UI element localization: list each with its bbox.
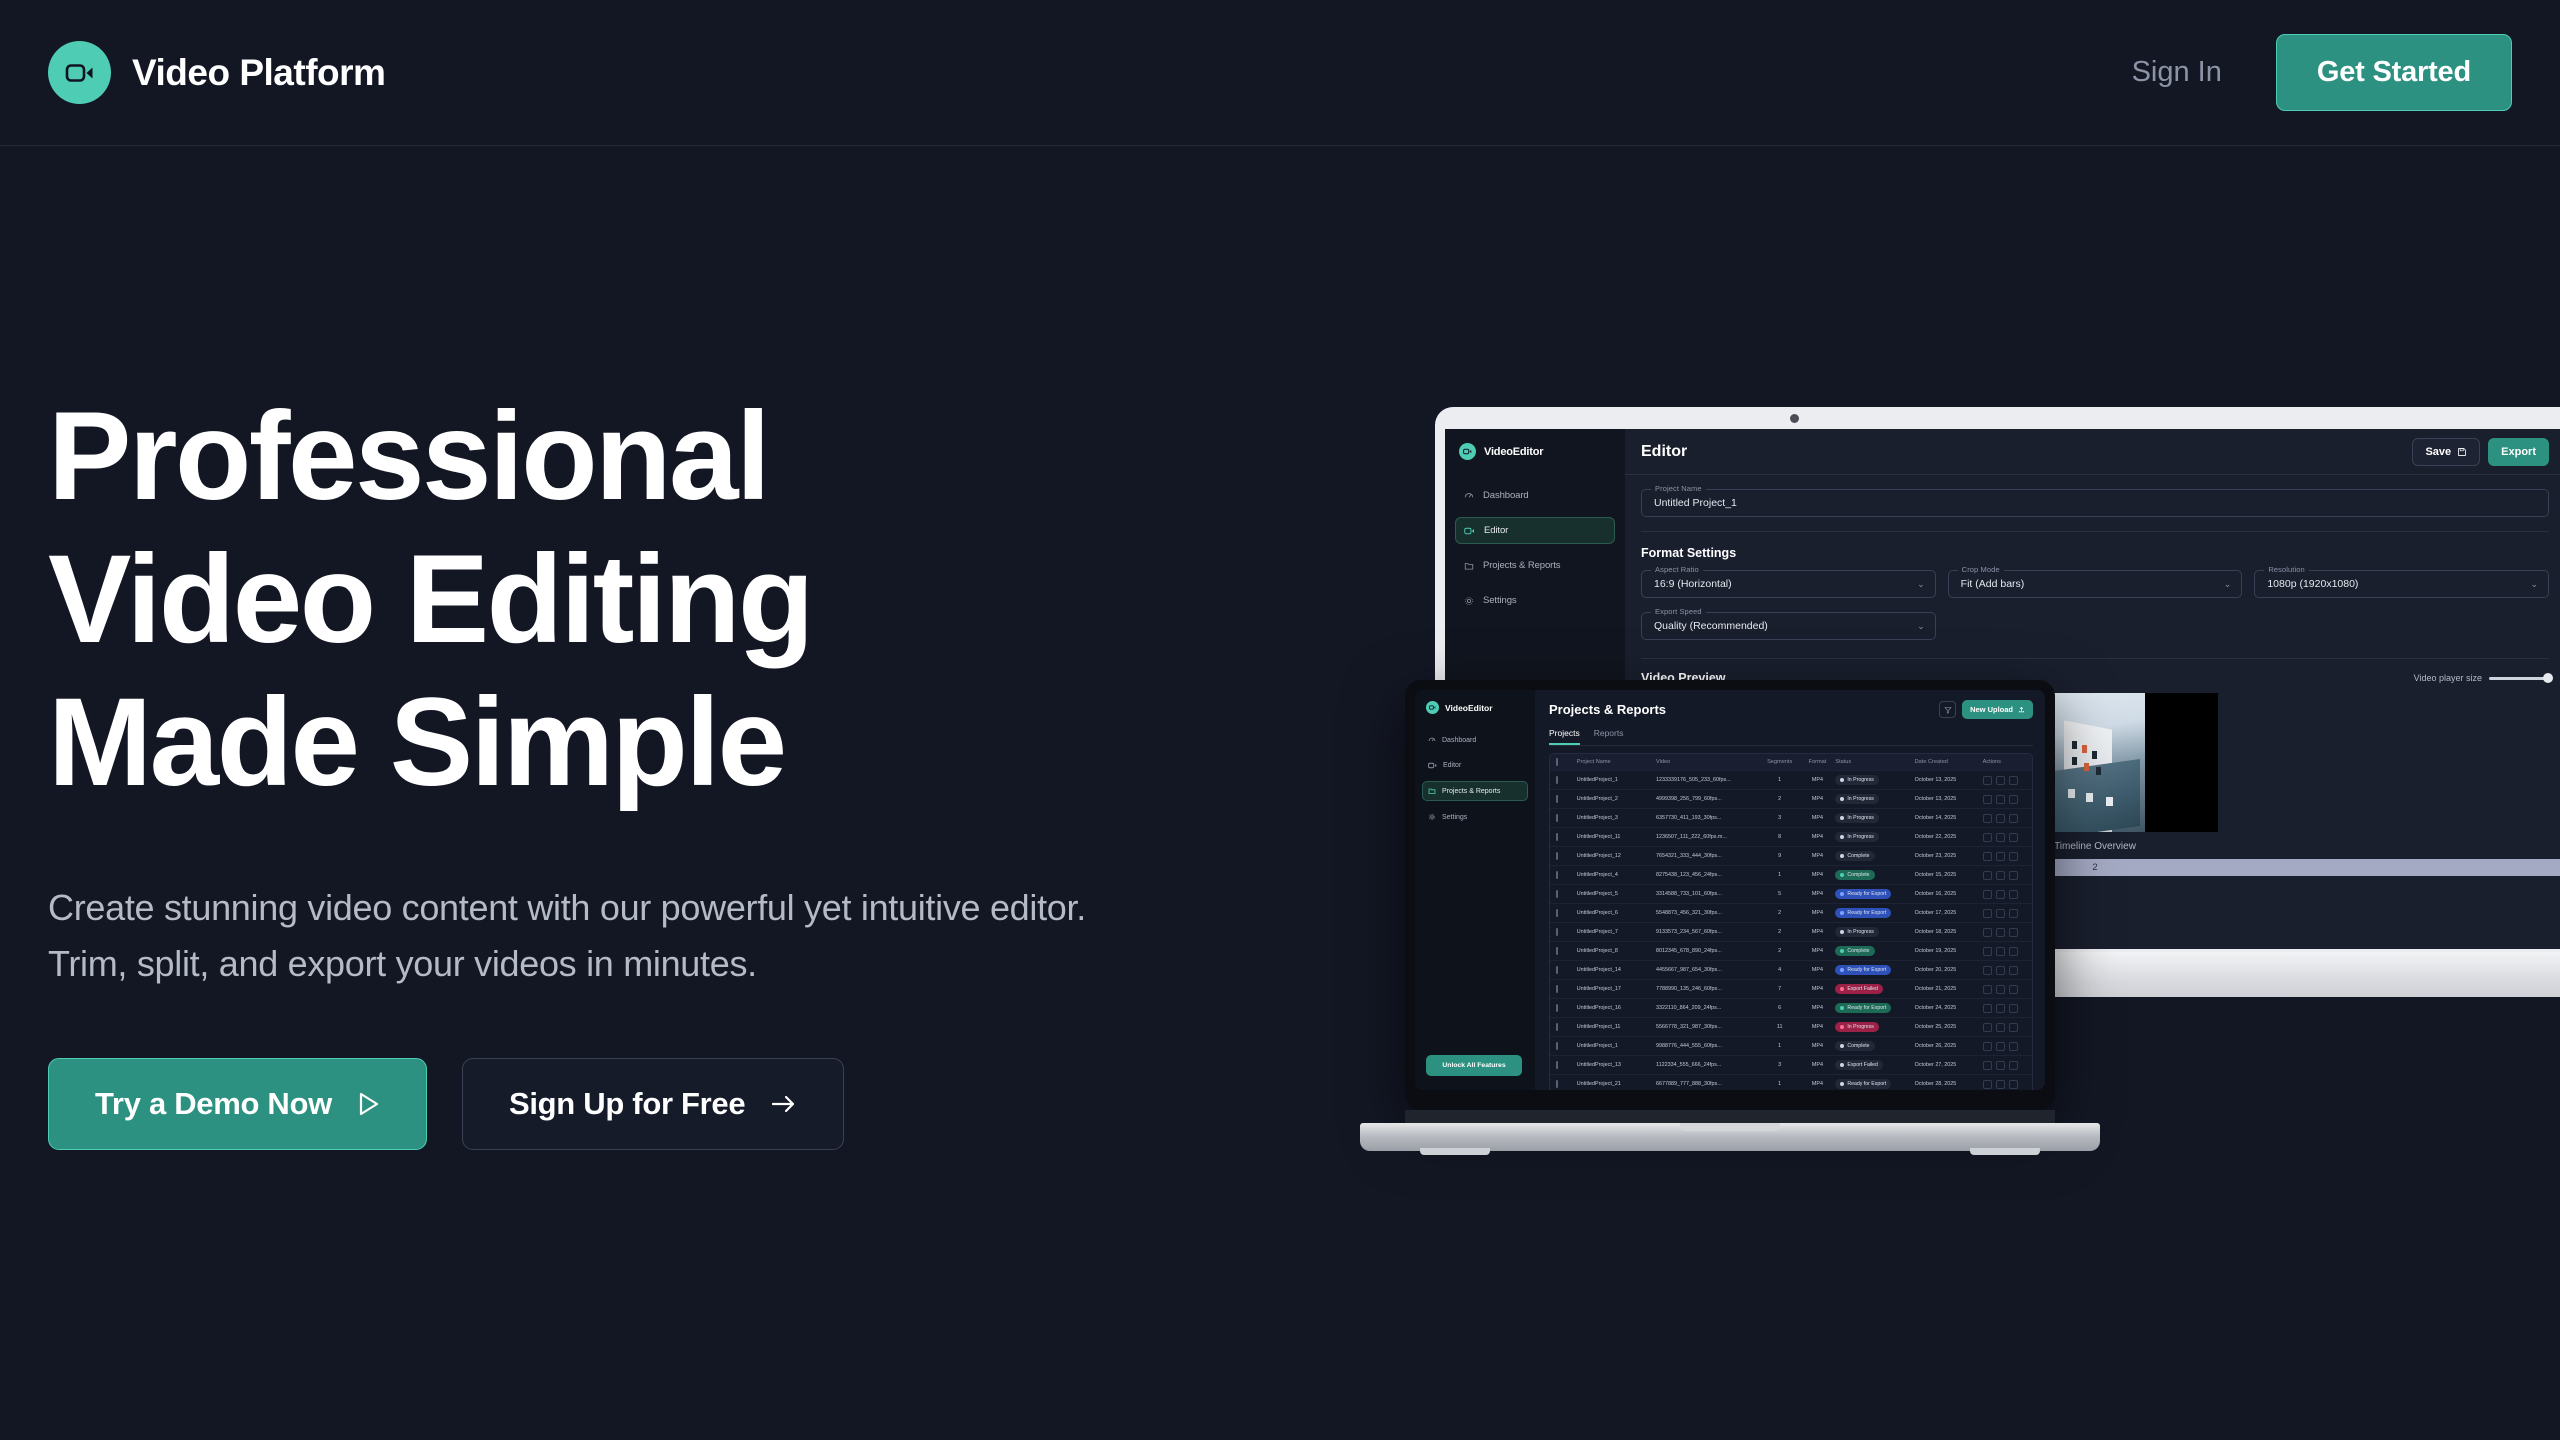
cell-segments: 11 bbox=[1760, 1024, 1800, 1030]
column-status[interactable]: Status bbox=[1835, 759, 1914, 765]
cell-segments: 3 bbox=[1760, 1062, 1800, 1068]
column-date-created[interactable]: Date Created bbox=[1915, 759, 1983, 765]
unlock-all-features-button[interactable]: Unlock All Features bbox=[1426, 1055, 1522, 1076]
page-title: Professional Video Editing Made Simple bbox=[48, 385, 1248, 814]
table-row[interactable]: UntitledProject_115566778_321_987_30fps.… bbox=[1550, 1017, 2032, 1036]
export-label: Export bbox=[2501, 446, 2536, 458]
cell-video: 4455667_987_654_30fps... bbox=[1656, 967, 1760, 973]
export-speed-select[interactable]: Export Speed Quality (Recommended) ⌄ bbox=[1641, 612, 1936, 640]
cell-project-name: UntitledProject_6 bbox=[1577, 910, 1656, 916]
cell-format: MP4 bbox=[1800, 777, 1836, 783]
row-checkbox[interactable] bbox=[1556, 910, 1577, 916]
cell-format: MP4 bbox=[1800, 986, 1836, 992]
cell-status: Export Failed bbox=[1835, 1060, 1914, 1070]
video-camera-icon bbox=[1426, 701, 1439, 714]
download-icon[interactable] bbox=[1996, 814, 2005, 823]
player-size-slider[interactable] bbox=[2489, 677, 2549, 680]
download-icon[interactable] bbox=[1996, 966, 2005, 975]
sidebar-item-label: Dashboard bbox=[1483, 490, 1529, 501]
table-row[interactable]: UntitledProject_24999398_256_799_60fps..… bbox=[1550, 789, 2032, 808]
filter-icon[interactable] bbox=[1939, 701, 1956, 718]
row-checkbox[interactable] bbox=[1556, 929, 1577, 935]
edit-icon[interactable] bbox=[1983, 871, 1992, 880]
cell-format: MP4 bbox=[1800, 1062, 1836, 1068]
export-speed-label: Export Speed bbox=[1651, 607, 1706, 616]
cell-video: 8012345_678_890_24fps... bbox=[1656, 948, 1760, 954]
cell-format: MP4 bbox=[1800, 1081, 1836, 1087]
sidebar-item-label: Settings bbox=[1442, 814, 1467, 821]
edit-icon[interactable] bbox=[1983, 1061, 1992, 1070]
cell-format: MP4 bbox=[1800, 1024, 1836, 1030]
save-disk-icon bbox=[2457, 447, 2467, 457]
status-badge: In Progress bbox=[1835, 832, 1879, 842]
status-badge: In Progress bbox=[1835, 794, 1879, 804]
cell-format: MP4 bbox=[1800, 967, 1836, 973]
project-name-value: Untitled Project_1 bbox=[1654, 497, 1737, 509]
cell-actions bbox=[1983, 947, 2026, 956]
row-checkbox[interactable] bbox=[1556, 872, 1577, 878]
export-speed-grid: Export Speed Quality (Recommended) ⌄ bbox=[1641, 612, 2549, 644]
sign-up-button[interactable]: Sign Up for Free bbox=[462, 1058, 844, 1150]
edit-icon[interactable] bbox=[1983, 776, 1992, 785]
cell-video: 1122334_555_666_24fps... bbox=[1656, 1062, 1760, 1068]
edit-icon[interactable] bbox=[1983, 1023, 1992, 1032]
folder-icon bbox=[1464, 561, 1474, 571]
cell-status: Ready for Export bbox=[1835, 1003, 1914, 1013]
projects-table: Project Name Video Segments Format Statu… bbox=[1549, 753, 2033, 1090]
hero-heading-line-2: Video Editing bbox=[48, 530, 812, 669]
cell-actions bbox=[1983, 1023, 2026, 1032]
projects-tabs: Projects Reports bbox=[1549, 728, 2033, 746]
sidebar-item-projects-reports[interactable]: Projects & Reports bbox=[1455, 552, 1615, 579]
site-header: Video Platform Sign In Get Started bbox=[0, 0, 2560, 146]
cell-date-created: October 23, 2025 bbox=[1915, 853, 1983, 859]
row-checkbox[interactable] bbox=[1556, 834, 1577, 840]
row-checkbox[interactable] bbox=[1556, 1043, 1577, 1049]
cell-format: MP4 bbox=[1800, 815, 1836, 821]
project-name-field[interactable]: Project Name Untitled Project_1 bbox=[1641, 489, 2549, 517]
format-settings-grid: Aspect Ratio 16:9 (Horizontal) ⌄ Crop Mo… bbox=[1641, 570, 2549, 602]
row-checkbox[interactable] bbox=[1556, 967, 1577, 973]
cell-status: In Progress bbox=[1835, 927, 1914, 937]
cell-date-created: October 28, 2025 bbox=[1915, 1081, 1983, 1087]
delete-icon[interactable] bbox=[2009, 890, 2018, 899]
hero-heading-line-3: Made Simple bbox=[48, 673, 785, 812]
cell-actions bbox=[1983, 1042, 2026, 1051]
cell-format: MP4 bbox=[1800, 929, 1836, 935]
cell-project-name: UntitledProject_8 bbox=[1577, 948, 1656, 954]
upload-icon bbox=[2018, 706, 2025, 713]
delete-icon[interactable] bbox=[2009, 833, 2018, 842]
cell-segments: 2 bbox=[1760, 796, 1800, 802]
cell-video: 7788990_135_246_60fps... bbox=[1656, 986, 1760, 992]
cell-project-name: UntitledProject_2 bbox=[1577, 796, 1656, 802]
try-demo-label: Try a Demo Now bbox=[95, 1086, 332, 1122]
gear-icon bbox=[1464, 596, 1474, 606]
status-badge: Complete bbox=[1835, 870, 1874, 880]
device-mockups: VideoEditor Dashboard Editor bbox=[1360, 380, 2560, 1240]
table-row[interactable]: UntitledProject_177788990_135_246_60fps.… bbox=[1550, 979, 2032, 998]
landing-page: Video Platform Sign In Get Started Profe… bbox=[0, 0, 2560, 1440]
download-icon[interactable] bbox=[1996, 1061, 2005, 1070]
table-row[interactable]: UntitledProject_79133573_234_567_60fps..… bbox=[1550, 922, 2032, 941]
cell-status: Ready for Export bbox=[1835, 889, 1914, 899]
sidebar-item-editor[interactable]: Editor bbox=[1455, 517, 1615, 544]
cell-status: Ready for Export bbox=[1835, 965, 1914, 975]
cell-segments: 1 bbox=[1760, 1081, 1800, 1087]
editor-nav: Dashboard Editor Projects & Reports bbox=[1445, 482, 1625, 614]
edit-icon[interactable] bbox=[1983, 928, 1992, 937]
cell-date-created: October 13, 2025 bbox=[1915, 796, 1983, 802]
column-actions: Actions bbox=[1983, 759, 2026, 765]
edit-icon[interactable] bbox=[1983, 852, 1992, 861]
editor-brand-name: VideoEditor bbox=[1484, 446, 1543, 458]
cell-format: MP4 bbox=[1800, 910, 1836, 916]
sidebar-item-dashboard[interactable]: Dashboard bbox=[1455, 482, 1615, 509]
row-checkbox[interactable] bbox=[1556, 1005, 1577, 1011]
dashboard-icon bbox=[1464, 491, 1474, 501]
edit-icon[interactable] bbox=[1983, 833, 1992, 842]
sidebar-item-editor[interactable]: Editor bbox=[1422, 756, 1528, 775]
edit-icon[interactable] bbox=[1983, 1004, 1992, 1013]
webcam-dot-icon bbox=[1790, 414, 1799, 423]
cell-status: In Progress bbox=[1835, 1022, 1914, 1032]
delete-icon[interactable] bbox=[2009, 1004, 2018, 1013]
cell-format: MP4 bbox=[1800, 948, 1836, 954]
video-camera-icon bbox=[1464, 527, 1475, 535]
resolution-select[interactable]: Resolution 1080p (1920x1080) ⌄ bbox=[2254, 570, 2549, 598]
cell-date-created: October 20, 2025 bbox=[1915, 967, 1983, 973]
cell-segments: 6 bbox=[1760, 1005, 1800, 1011]
cell-format: MP4 bbox=[1800, 1005, 1836, 1011]
try-demo-button[interactable]: Try a Demo Now bbox=[48, 1058, 427, 1150]
edit-icon[interactable] bbox=[1983, 966, 1992, 975]
download-icon[interactable] bbox=[1996, 852, 2005, 861]
laptop-foot-right bbox=[1970, 1148, 2040, 1155]
delete-icon[interactable] bbox=[2009, 985, 2018, 994]
laptop-nav: Dashboard Editor Projects & Reports bbox=[1415, 730, 1535, 827]
editor-brand: VideoEditor bbox=[1445, 429, 1625, 460]
cell-actions bbox=[1983, 1061, 2026, 1070]
table-row[interactable]: UntitledProject_36357730_411_193_30fps..… bbox=[1550, 808, 2032, 827]
cell-video: 8275438_123_456_24fps... bbox=[1656, 872, 1760, 878]
row-checkbox[interactable] bbox=[1556, 1081, 1577, 1087]
cell-format: MP4 bbox=[1800, 834, 1836, 840]
cell-video: 3322110_864_209_24fps... bbox=[1656, 1005, 1760, 1011]
table-row[interactable]: UntitledProject_131122334_555_666_24fps.… bbox=[1550, 1055, 2032, 1074]
player-size-label: Video player size bbox=[2414, 673, 2482, 683]
cell-video: 1236507_111_222_60fps.m... bbox=[1656, 834, 1760, 840]
delete-icon[interactable] bbox=[2009, 1023, 2018, 1032]
table-row[interactable]: UntitledProject_88012345_678_890_24fps..… bbox=[1550, 941, 2032, 960]
video-camera-icon bbox=[48, 41, 111, 104]
cell-project-name: UntitledProject_12 bbox=[1577, 853, 1656, 859]
sidebar-item-projects-reports[interactable]: Projects & Reports bbox=[1422, 781, 1528, 801]
dashboard-icon bbox=[1428, 736, 1436, 744]
table-row[interactable]: UntitledProject_127654321_333_444_30fps.… bbox=[1550, 846, 2032, 865]
cell-actions bbox=[1983, 966, 2026, 975]
sign-in-link[interactable]: Sign In bbox=[2132, 56, 2222, 89]
edit-icon[interactable] bbox=[1983, 795, 1992, 804]
status-badge: Export Failed bbox=[1835, 984, 1883, 994]
table-row[interactable]: UntitledProject_19988776_444_555_60fps..… bbox=[1550, 1036, 2032, 1055]
cell-segments: 3 bbox=[1760, 815, 1800, 821]
cell-video: 9988776_444_555_60fps... bbox=[1656, 1043, 1760, 1049]
sign-up-label: Sign Up for Free bbox=[509, 1086, 745, 1122]
cell-project-name: UntitledProject_11 bbox=[1577, 834, 1656, 840]
status-badge: Ready for Export bbox=[1835, 1003, 1891, 1013]
status-badge: Complete bbox=[1835, 851, 1874, 861]
delete-icon[interactable] bbox=[2009, 776, 2018, 785]
sidebar-item-settings[interactable]: Settings bbox=[1455, 587, 1615, 614]
cell-status: Ready for Export bbox=[1835, 908, 1914, 918]
edit-icon[interactable] bbox=[1983, 909, 1992, 918]
cell-actions bbox=[1983, 1080, 2026, 1089]
cell-video: 5548873_456_321_30fps... bbox=[1656, 910, 1760, 916]
status-badge: In Progress bbox=[1835, 775, 1879, 785]
resolution-label: Resolution bbox=[2264, 565, 2308, 574]
cell-status: In Progress bbox=[1835, 794, 1914, 804]
edit-icon[interactable] bbox=[1983, 985, 1992, 994]
cell-project-name: UntitledProject_11 bbox=[1577, 1024, 1656, 1030]
cell-segments: 5 bbox=[1760, 891, 1800, 897]
status-badge: Complete bbox=[1835, 946, 1874, 956]
table-row[interactable]: UntitledProject_163322110_864_209_24fps.… bbox=[1550, 998, 2032, 1017]
crop-mode-label: Crop Mode bbox=[1958, 565, 2004, 574]
projects-sidebar: VideoEditor Dashboard Editor bbox=[1415, 690, 1535, 1090]
cell-segments: 9 bbox=[1760, 853, 1800, 859]
laptop-foot-left bbox=[1420, 1148, 1490, 1155]
cell-segments: 4 bbox=[1760, 967, 1800, 973]
chevron-down-icon: ⌄ bbox=[1917, 580, 1925, 589]
row-checkbox[interactable] bbox=[1556, 1062, 1577, 1068]
download-icon[interactable] bbox=[1996, 776, 2005, 785]
brand[interactable]: Video Platform bbox=[48, 41, 385, 104]
delete-icon[interactable] bbox=[2009, 852, 2018, 861]
sidebar-item-label: Editor bbox=[1443, 762, 1461, 769]
crop-mode-select[interactable]: Crop Mode Fit (Add bars) ⌄ bbox=[1948, 570, 2243, 598]
cell-segments: 2 bbox=[1760, 929, 1800, 935]
download-icon[interactable] bbox=[1996, 985, 2005, 994]
table-row[interactable]: UntitledProject_48275438_123_456_24fps..… bbox=[1550, 865, 2032, 884]
edit-icon[interactable] bbox=[1983, 947, 1992, 956]
player-size-control[interactable]: Video player size bbox=[2414, 673, 2549, 683]
row-checkbox[interactable] bbox=[1556, 948, 1577, 954]
cell-segments: 7 bbox=[1760, 986, 1800, 992]
cell-status: Complete bbox=[1835, 851, 1914, 861]
cell-status: Complete bbox=[1835, 946, 1914, 956]
cell-actions bbox=[1983, 1004, 2026, 1013]
hero-subtext: Create stunning video content with our p… bbox=[48, 880, 1138, 992]
cell-date-created: October 21, 2025 bbox=[1915, 986, 1983, 992]
cell-video: 5566778_321_987_30fps... bbox=[1656, 1024, 1760, 1030]
save-label: Save bbox=[2425, 446, 2451, 458]
cell-date-created: October 15, 2025 bbox=[1915, 872, 1983, 878]
projects-main: Projects & Reports New Upload Projec bbox=[1535, 690, 2045, 1090]
download-icon[interactable] bbox=[1996, 1004, 2005, 1013]
laptop-mockup: VideoEditor Dashboard Editor bbox=[1360, 680, 2100, 1180]
cell-project-name: UntitledProject_3 bbox=[1577, 815, 1656, 821]
projects-action-bar: New Upload bbox=[1939, 700, 2033, 719]
cell-date-created: October 22, 2025 bbox=[1915, 834, 1983, 840]
row-checkbox[interactable] bbox=[1556, 777, 1577, 783]
cell-date-created: October 17, 2025 bbox=[1915, 910, 1983, 916]
table-row[interactable]: UntitledProject_111236507_111_222_60fps.… bbox=[1550, 827, 2032, 846]
cell-status: Complete bbox=[1835, 1041, 1914, 1051]
cell-status: In Progress bbox=[1835, 775, 1914, 785]
table-row[interactable]: UntitledProject_11233339176_505_233_60fp… bbox=[1550, 770, 2032, 789]
cell-date-created: October 14, 2025 bbox=[1915, 815, 1983, 821]
cell-actions bbox=[1983, 909, 2026, 918]
cell-date-created: October 27, 2025 bbox=[1915, 1062, 1983, 1068]
cell-video: 6677889_777_888_30fps... bbox=[1656, 1081, 1760, 1087]
get-started-button[interactable]: Get Started bbox=[2276, 34, 2512, 111]
tab-reports[interactable]: Reports bbox=[1594, 728, 1624, 745]
cell-actions bbox=[1983, 776, 2026, 785]
cell-video: 3314588_733_101_60fps... bbox=[1656, 891, 1760, 897]
cell-actions bbox=[1983, 890, 2026, 899]
delete-icon[interactable] bbox=[2009, 1042, 2018, 1051]
cell-project-name: UntitledProject_16 bbox=[1577, 1005, 1656, 1011]
cell-date-created: October 18, 2025 bbox=[1915, 929, 1983, 935]
column-segments[interactable]: Segments bbox=[1760, 759, 1800, 765]
cell-date-created: October 24, 2025 bbox=[1915, 1005, 1983, 1011]
download-icon[interactable] bbox=[1996, 833, 2005, 842]
download-icon[interactable] bbox=[1996, 1042, 2005, 1051]
cell-segments: 2 bbox=[1760, 910, 1800, 916]
cell-status: In Progress bbox=[1835, 813, 1914, 823]
cell-actions bbox=[1983, 833, 2026, 842]
table-row[interactable]: UntitledProject_53314588_733_101_60fps..… bbox=[1550, 884, 2032, 903]
download-icon[interactable] bbox=[1996, 947, 2005, 956]
play-triangle-icon bbox=[358, 1092, 380, 1116]
cta-row: Try a Demo Now Sign Up for Free bbox=[48, 1058, 1248, 1150]
chevron-down-icon: ⌄ bbox=[1917, 622, 1925, 631]
status-badge: In Progress bbox=[1835, 927, 1879, 937]
table-header: Project Name Video Segments Format Statu… bbox=[1550, 754, 2032, 770]
delete-icon[interactable] bbox=[2009, 814, 2018, 823]
download-icon[interactable] bbox=[1996, 871, 2005, 880]
download-icon[interactable] bbox=[1996, 1080, 2005, 1089]
row-checkbox[interactable] bbox=[1556, 986, 1577, 992]
delete-icon[interactable] bbox=[2009, 928, 2018, 937]
sidebar-item-label: Dashboard bbox=[1442, 737, 1476, 744]
editor-body: Project Name Untitled Project_1 Format S… bbox=[1625, 475, 2560, 659]
status-badge: Ready for Export bbox=[1835, 1079, 1891, 1089]
tab-projects[interactable]: Projects bbox=[1549, 728, 1580, 745]
cell-project-name: UntitledProject_17 bbox=[1577, 986, 1656, 992]
format-settings-title: Format Settings bbox=[1641, 546, 2549, 560]
table-row[interactable]: UntitledProject_65548873_456_321_30fps..… bbox=[1550, 903, 2032, 922]
row-checkbox[interactable] bbox=[1556, 853, 1577, 859]
row-checkbox[interactable] bbox=[1556, 891, 1577, 897]
cell-project-name: UntitledProject_5 bbox=[1577, 891, 1656, 897]
cell-format: MP4 bbox=[1800, 853, 1836, 859]
resolution-value: 1080p (1920x1080) bbox=[2267, 578, 2358, 590]
delete-icon[interactable] bbox=[2009, 795, 2018, 804]
column-video[interactable]: Video bbox=[1656, 759, 1760, 765]
cell-date-created: October 13, 2025 bbox=[1915, 777, 1983, 783]
cell-segments: 1 bbox=[1760, 777, 1800, 783]
cell-project-name: UntitledProject_7 bbox=[1577, 929, 1656, 935]
cell-format: MP4 bbox=[1800, 1043, 1836, 1049]
cell-date-created: October 16, 2025 bbox=[1915, 891, 1983, 897]
select-all-checkbox[interactable] bbox=[1556, 759, 1577, 765]
cell-actions bbox=[1983, 795, 2026, 804]
status-badge: Ready for Export bbox=[1835, 965, 1891, 975]
download-icon[interactable] bbox=[1996, 890, 2005, 899]
edit-icon[interactable] bbox=[1983, 1042, 1992, 1051]
cell-video: 1233339176_505_233_60fps... bbox=[1656, 777, 1760, 783]
table-body: UntitledProject_11233339176_505_233_60fp… bbox=[1550, 770, 2032, 1090]
row-checkbox[interactable] bbox=[1556, 796, 1577, 802]
cell-video: 4999398_256_799_60fps... bbox=[1656, 796, 1760, 802]
download-icon[interactable] bbox=[1996, 928, 2005, 937]
editor-top-buttons: Save Export bbox=[2412, 438, 2549, 466]
cell-status: Export Failed bbox=[1835, 984, 1914, 994]
cell-project-name: UntitledProject_14 bbox=[1577, 967, 1656, 973]
hero-heading-line-1: Professional bbox=[48, 387, 768, 526]
laptop-screen: VideoEditor Dashboard Editor bbox=[1415, 690, 2045, 1090]
brand-name: Video Platform bbox=[132, 52, 385, 94]
laptop-notch bbox=[1680, 1123, 1780, 1131]
cell-format: MP4 bbox=[1800, 796, 1836, 802]
delete-icon[interactable] bbox=[2009, 1061, 2018, 1070]
sidebar-item-label: Editor bbox=[1484, 525, 1508, 536]
sidebar-item-label: Projects & Reports bbox=[1442, 788, 1500, 795]
new-upload-button[interactable]: New Upload bbox=[1962, 700, 2033, 719]
cell-segments: 2 bbox=[1760, 948, 1800, 954]
aspect-ratio-label: Aspect Ratio bbox=[1651, 565, 1703, 574]
cell-project-name: UntitledProject_1 bbox=[1577, 1043, 1656, 1049]
delete-icon[interactable] bbox=[2009, 1080, 2018, 1089]
divider bbox=[1641, 531, 2549, 532]
download-icon[interactable] bbox=[1996, 1023, 2005, 1032]
save-button[interactable]: Save bbox=[2412, 438, 2480, 466]
status-badge: In Progress bbox=[1835, 1022, 1879, 1032]
aspect-ratio-select[interactable]: Aspect Ratio 16:9 (Horizontal) ⌄ bbox=[1641, 570, 1936, 598]
cell-date-created: October 25, 2025 bbox=[1915, 1024, 1983, 1030]
column-format[interactable]: Format bbox=[1800, 759, 1836, 765]
table-row[interactable]: UntitledProject_144455667_987_654_30fps.… bbox=[1550, 960, 2032, 979]
hero-section: Professional Video Editing Made Simple C… bbox=[48, 385, 1248, 1150]
row-checkbox[interactable] bbox=[1556, 1024, 1577, 1030]
row-checkbox[interactable] bbox=[1556, 815, 1577, 821]
download-icon[interactable] bbox=[1996, 909, 2005, 918]
sidebar-item-settings[interactable]: Settings bbox=[1422, 807, 1528, 827]
cell-project-name: UntitledProject_1 bbox=[1577, 777, 1656, 783]
delete-icon[interactable] bbox=[2009, 871, 2018, 880]
cell-segments: 1 bbox=[1760, 872, 1800, 878]
cell-actions bbox=[1983, 814, 2026, 823]
export-button[interactable]: Export bbox=[2488, 438, 2549, 466]
gear-icon bbox=[1428, 813, 1436, 821]
sidebar-item-label: Projects & Reports bbox=[1483, 560, 1560, 571]
delete-icon[interactable] bbox=[2009, 947, 2018, 956]
status-badge: Complete bbox=[1835, 1041, 1874, 1051]
edit-icon[interactable] bbox=[1983, 814, 1992, 823]
delete-icon[interactable] bbox=[2009, 909, 2018, 918]
download-icon[interactable] bbox=[1996, 795, 2005, 804]
column-project-name[interactable]: Project Name bbox=[1577, 759, 1656, 765]
header-nav: Sign In Get Started bbox=[2132, 34, 2512, 111]
delete-icon[interactable] bbox=[2009, 966, 2018, 975]
edit-icon[interactable] bbox=[1983, 1080, 1992, 1089]
table-row[interactable]: UntitledProject_216677889_777_888_30fps.… bbox=[1550, 1074, 2032, 1090]
folder-icon bbox=[1428, 787, 1436, 795]
sidebar-item-dashboard[interactable]: Dashboard bbox=[1422, 730, 1528, 750]
edit-icon[interactable] bbox=[1983, 890, 1992, 899]
